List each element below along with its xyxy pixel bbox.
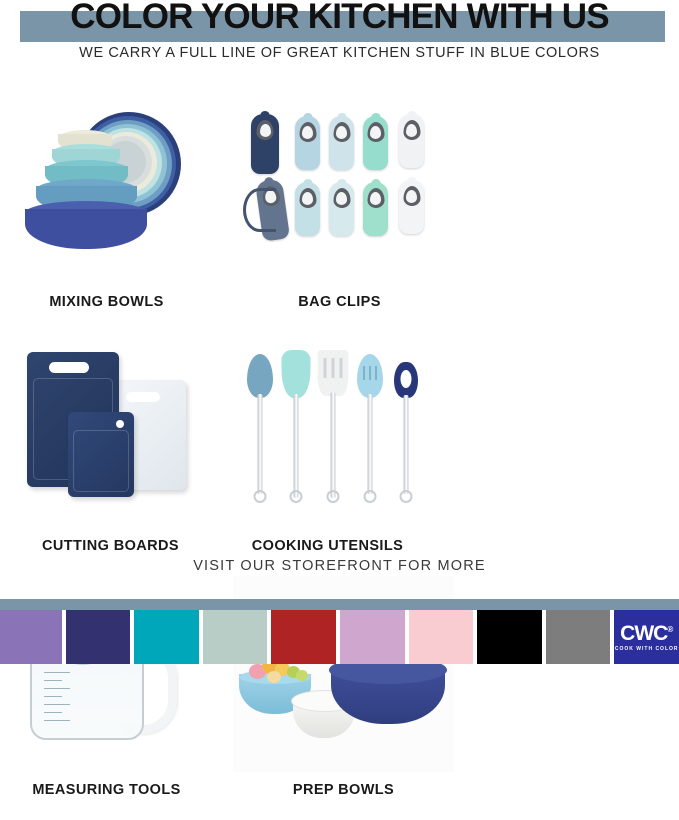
product-grid: MIXING BOWLS [0, 88, 679, 820]
swatch-gray [546, 610, 611, 664]
logo-tagline: COOK WITH COLOR [615, 646, 679, 652]
swatch-black [477, 610, 542, 664]
visit-storefront-text[interactable]: VISIT OUR STOREFRONT FOR MORE [0, 558, 679, 574]
swatch-top-bar [0, 599, 679, 610]
cutting-boards-image [0, 332, 221, 528]
logo-mark-text: CWC [620, 622, 667, 645]
brand-logo[interactable]: CWC® COOK WITH COLOR [614, 610, 679, 664]
registered-trademark-icon: ® [667, 625, 673, 634]
swatch-orchid [340, 610, 405, 664]
bag-clips-image [233, 88, 446, 284]
product-card-bag-clips[interactable]: BAG CLIPS [233, 88, 446, 332]
product-caption: PREP BOWLS [233, 772, 454, 820]
swatch-pink [409, 610, 474, 664]
mixing-bowls-image [0, 88, 213, 284]
swatch-red [271, 610, 336, 664]
page-header: COLOR YOUR KITCHEN WITH US WE CARRY A FU… [0, 0, 679, 78]
page-subtitle: WE CARRY A FULL LINE OF GREAT KITCHEN ST… [0, 45, 679, 61]
product-caption: MIXING BOWLS [0, 284, 213, 332]
swatch-sage [203, 610, 268, 664]
product-card-cooking-utensils[interactable]: COOKING UTENSILS [221, 332, 434, 576]
product-card-cutting-boards[interactable]: CUTTING BOARDS [0, 332, 221, 576]
swatch-teal [134, 610, 199, 664]
page-title: COLOR YOUR KITCHEN WITH US [0, 0, 679, 37]
swatch-purple [0, 610, 62, 664]
product-caption: MEASURING TOOLS [0, 772, 213, 820]
cooking-utensils-image [221, 332, 434, 528]
product-card-mixing-bowls[interactable]: MIXING BOWLS [0, 88, 213, 332]
swatch-navy [66, 610, 131, 664]
color-swatch-strip: CWC® COOK WITH COLOR [0, 610, 679, 664]
product-caption: BAG CLIPS [233, 284, 446, 332]
logo-wordmark: CWC® [620, 623, 673, 644]
